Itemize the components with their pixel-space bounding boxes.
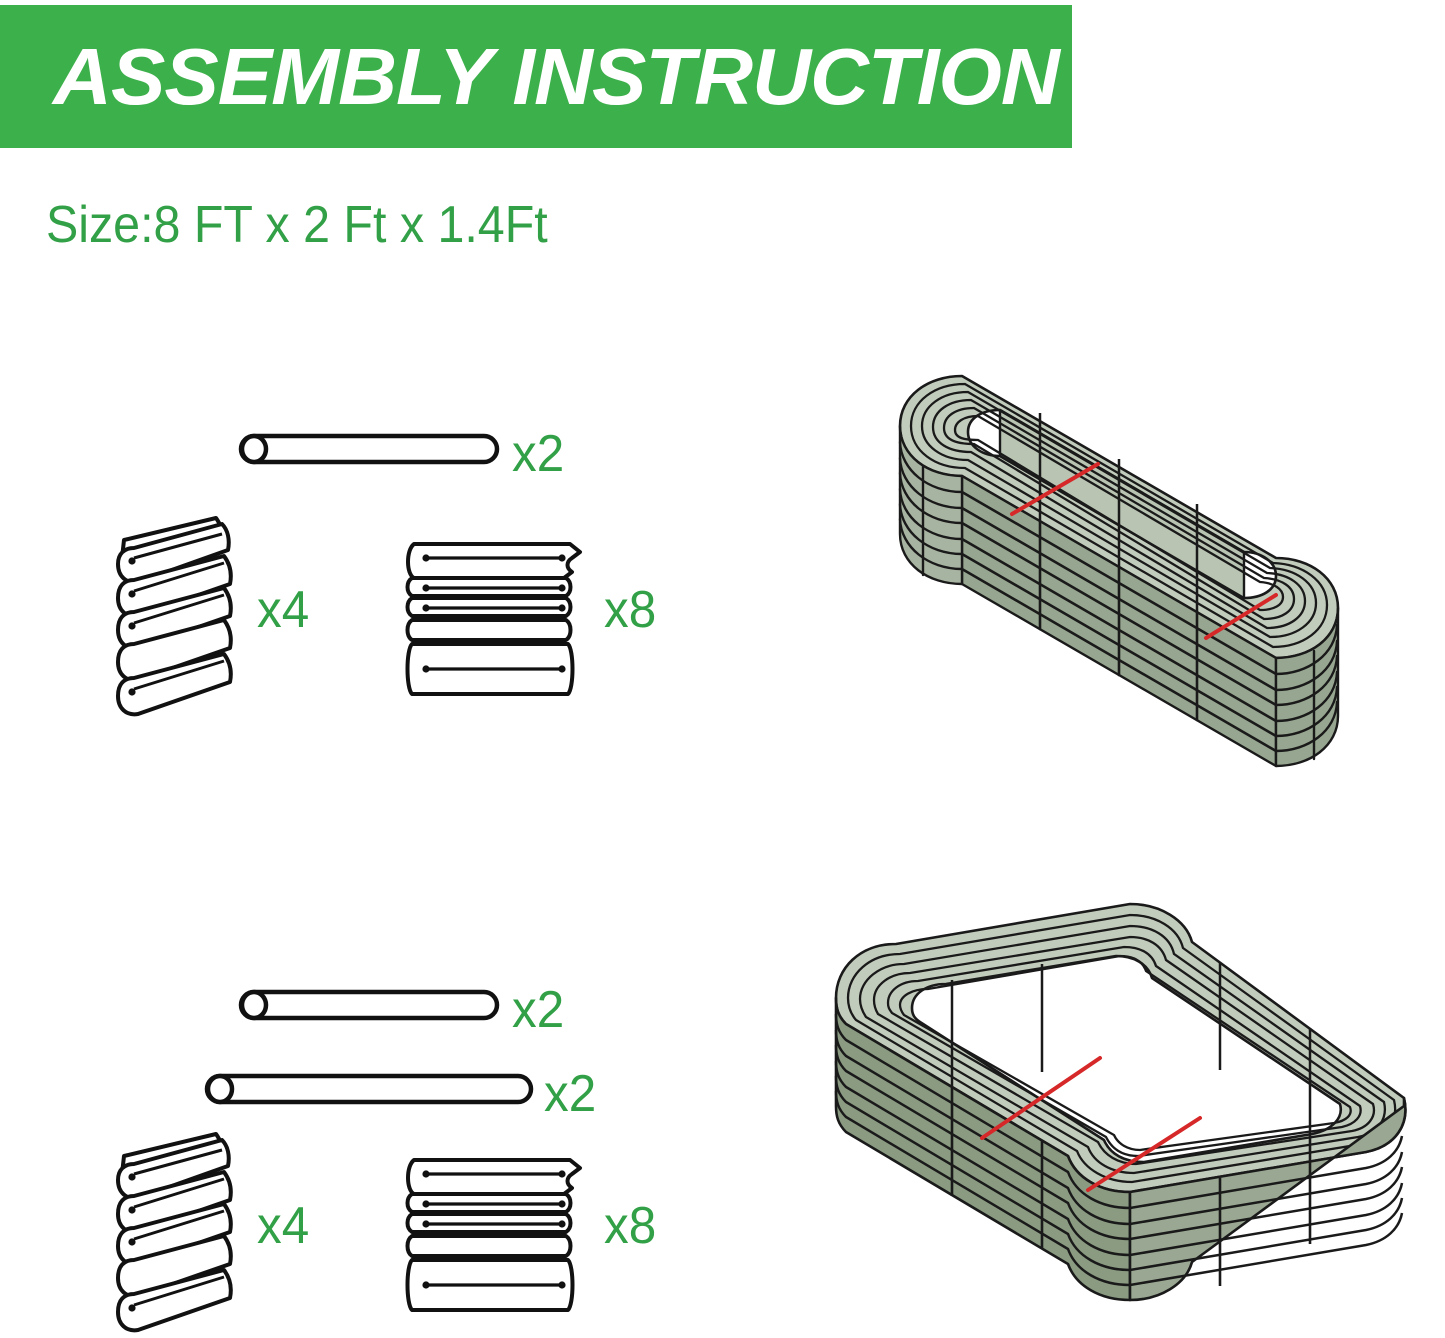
support-rod-long-count: x2 [544, 1068, 596, 1120]
straight-side-panel-stack-2 [402, 1152, 602, 1320]
support-rod-short-count-2: x2 [512, 984, 564, 1036]
straight-side-panel-count-2: x8 [604, 1200, 656, 1252]
support-rod-long-part [204, 1072, 534, 1106]
rectangular-bed-parts-list: x2 x2 x4 [0, 0, 760, 1338]
support-rod-short-part-2 [238, 988, 500, 1022]
rectangular-raised-bed-illustration [800, 890, 1440, 1338]
curved-corner-panel-stack-2 [112, 1128, 352, 1338]
curved-corner-panel-count-2: x4 [257, 1200, 309, 1252]
oval-raised-bed-illustration [836, 318, 1436, 838]
